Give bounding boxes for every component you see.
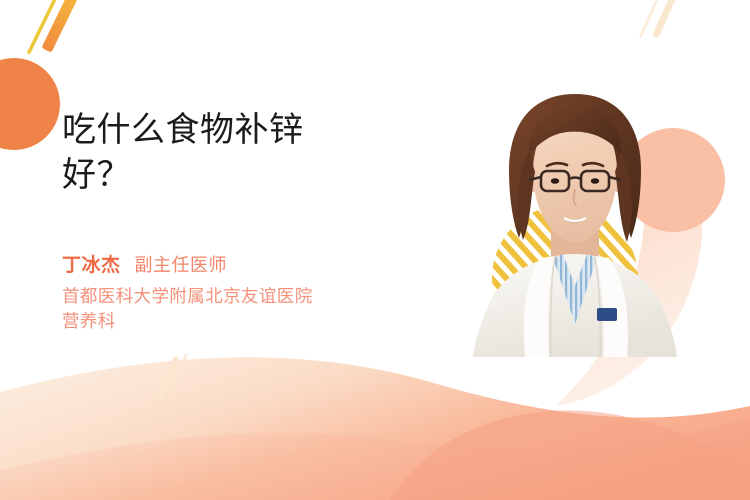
doctor-name-row: 丁冰杰 副主任医师 — [62, 250, 422, 277]
diagonal-stripes-top-right — [639, 0, 685, 39]
diagonal-stripes-top-left — [27, 0, 86, 55]
page-title: 吃什么食物补锌好？ — [62, 108, 362, 198]
faint-diagonal-stripe — [156, 353, 188, 402]
orange-circle-left — [0, 58, 60, 150]
doctor-name: 丁冰杰 — [62, 250, 121, 277]
doctor-video-thumbnail-card: 吃什么食物补锌好？ 丁冰杰 副主任医师 首都医科大学附属北京友谊医院营养科 — [0, 0, 750, 500]
doctor-hospital: 首都医科大学附属北京友谊医院 — [62, 286, 313, 306]
doctor-portrait — [455, 72, 695, 357]
peach-wave-bottom — [0, 357, 750, 500]
doctor-department: 营养科 — [62, 311, 116, 331]
doctor-affiliation: 首都医科大学附属北京友谊医院营养科 — [62, 284, 422, 334]
doctor-title: 副主任医师 — [135, 251, 228, 277]
text-block: 吃什么食物补锌好？ 丁冰杰 副主任医师 首都医科大学附属北京友谊医院营养科 — [62, 108, 422, 333]
doctor-credit: 丁冰杰 副主任医师 首都医科大学附属北京友谊医院营养科 — [62, 250, 422, 334]
